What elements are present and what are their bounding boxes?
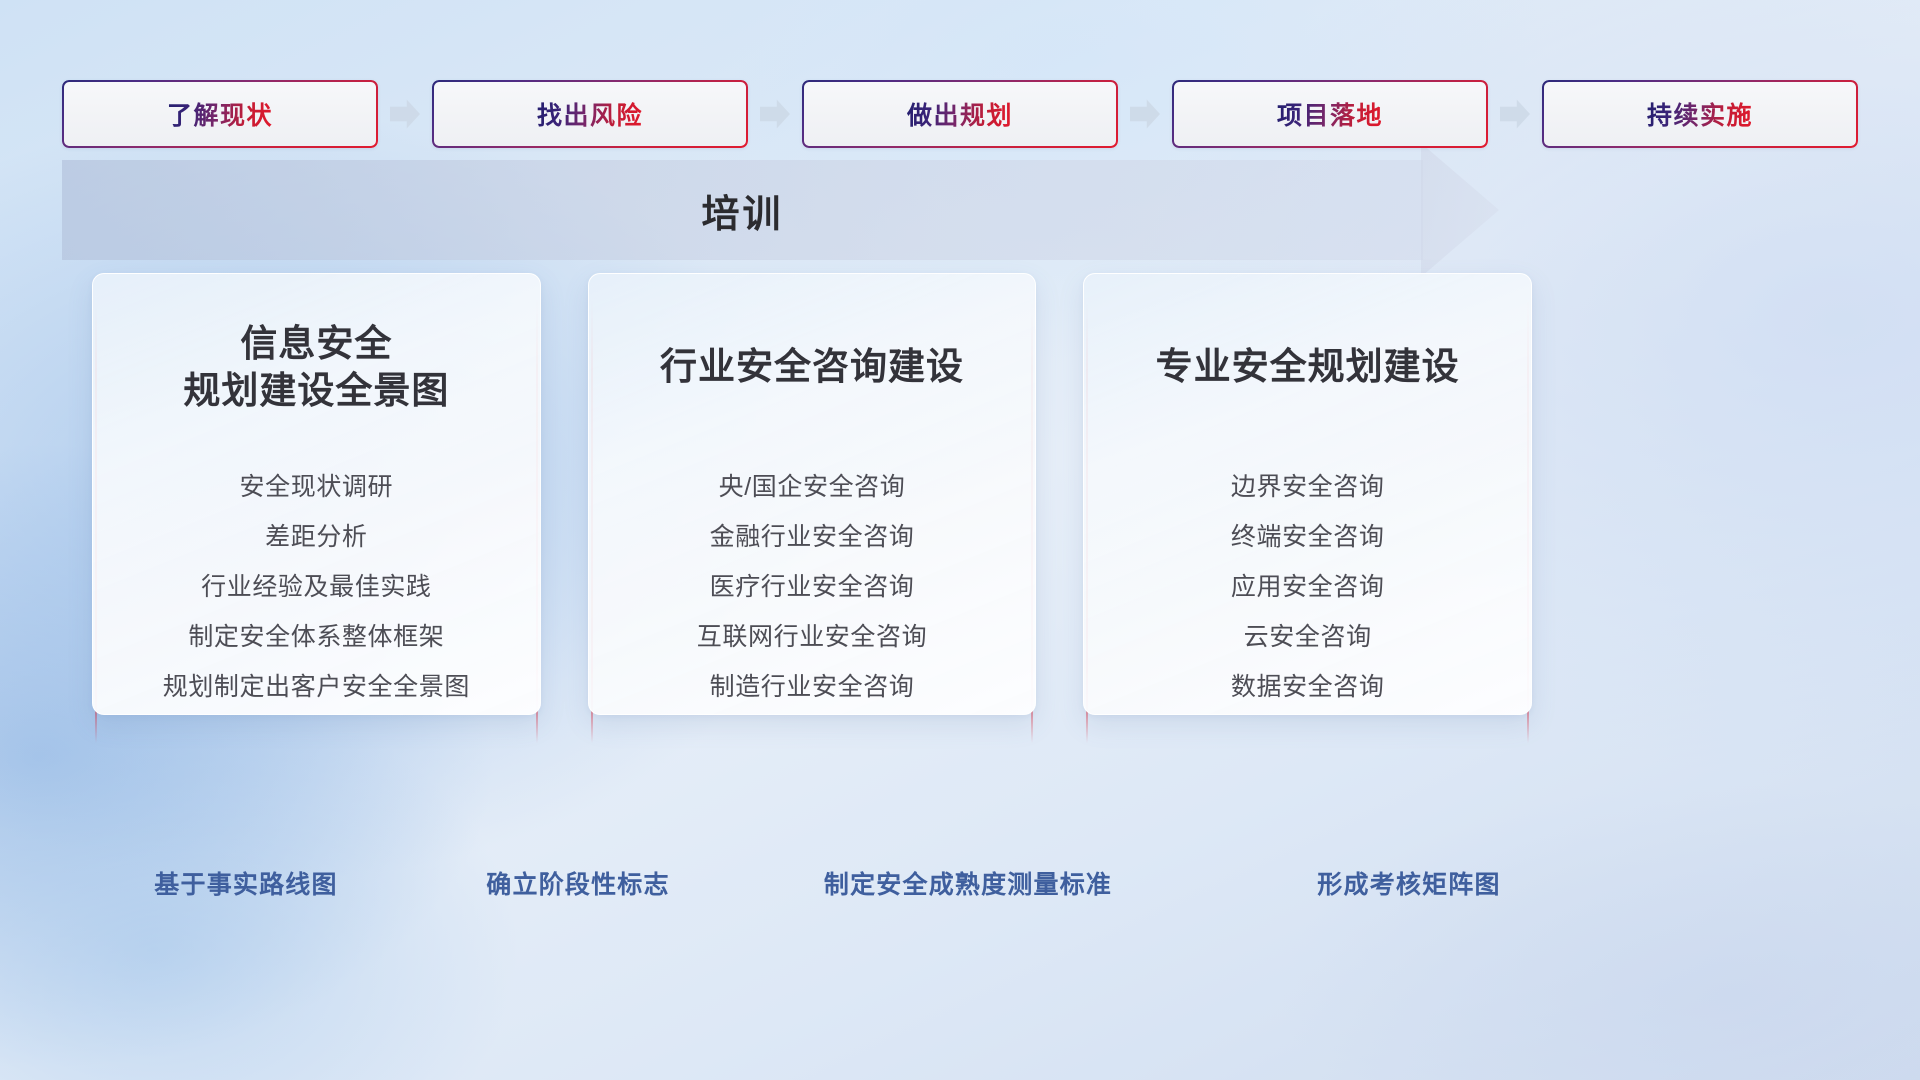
slide-canvas: 了解现状 找出风险 做出规划 项目落地 持续实施 培训 — [0, 0, 1920, 1080]
list-item: 制定安全体系整体框架 — [188, 616, 444, 658]
card-2[interactable]: 行业安全咨询建设 央/国企安全咨询 金融行业安全咨询 医疗行业安全咨询 互联网行… — [588, 273, 1037, 715]
card-title-line-1a: 信息安全规划建设全景图 — [183, 320, 449, 415]
step-arrow-icon-2 — [748, 99, 802, 129]
list-item: 互联网行业安全咨询 — [697, 616, 927, 658]
step-label-3: 做出规划 — [907, 96, 1013, 132]
list-item: 制造行业安全咨询 — [710, 666, 915, 708]
list-item: 央/国企安全咨询 — [719, 466, 906, 508]
step-chip-5[interactable]: 持续实施 — [1542, 80, 1858, 148]
list-item: 差距分析 — [265, 516, 367, 558]
footnote-1: 基于事实路线图 — [154, 865, 337, 901]
step-chip-1[interactable]: 了解现状 — [62, 80, 378, 148]
card-list-3: 边界安全咨询 终端安全咨询 应用安全咨询 云安全咨询 数据安全咨询 — [1118, 466, 1497, 708]
list-item: 云安全咨询 — [1244, 616, 1372, 658]
step-chip-2[interactable]: 找出风险 — [432, 80, 748, 148]
footnote-2: 确立阶段性标志 — [486, 865, 669, 901]
list-item: 终端安全咨询 — [1231, 516, 1385, 558]
card-row: 信息安全规划建设全景图 安全现状调研 差距分析 行业经验及最佳实践 制定安全体系… — [92, 273, 1532, 715]
list-item: 金融行业安全咨询 — [710, 516, 915, 558]
list-item: 规划制定出客户安全全景图 — [163, 666, 470, 708]
card-title-1: 信息安全规划建设全景图 — [183, 318, 449, 416]
card-title-3: 专业安全规划建设 — [1156, 318, 1460, 416]
process-step-row: 了解现状 找出风险 做出规划 项目落地 持续实施 — [62, 80, 1858, 148]
footnote-4: 形成考核矩阵图 — [1317, 865, 1500, 901]
step-label-4: 项目落地 — [1277, 96, 1383, 132]
step-chip-3[interactable]: 做出规划 — [802, 80, 1118, 148]
footnote-3: 制定安全成熟度测量标准 — [824, 865, 1112, 901]
card-title-2: 行业安全咨询建设 — [660, 318, 964, 416]
card-1[interactable]: 信息安全规划建设全景图 安全现状调研 差距分析 行业经验及最佳实践 制定安全体系… — [92, 273, 541, 715]
step-label-5: 持续实施 — [1647, 96, 1753, 132]
banner-title: 培训 — [62, 160, 1423, 260]
list-item: 应用安全咨询 — [1231, 566, 1385, 608]
card-slot-1: 信息安全规划建设全景图 安全现状调研 差距分析 行业经验及最佳实践 制定安全体系… — [92, 273, 541, 715]
step-arrow-icon-3 — [1118, 99, 1172, 129]
list-item: 医疗行业安全咨询 — [710, 566, 915, 608]
step-label-2: 找出风险 — [537, 96, 643, 132]
card-3[interactable]: 专业安全规划建设 边界安全咨询 终端安全咨询 应用安全咨询 云安全咨询 数据安全… — [1083, 273, 1532, 715]
banner-arrowhead-icon — [1421, 143, 1499, 277]
card-list-1: 安全现状调研 差距分析 行业经验及最佳实践 制定安全体系整体框架 规划制定出客户… — [127, 466, 506, 708]
list-item: 安全现状调研 — [240, 466, 394, 508]
footnote-row: 基于事实路线图 确立阶段性标志 制定安全成熟度测量标准 形成考核矩阵图 — [0, 865, 1920, 909]
card-title-line-3a: 专业安全规划建设 — [1156, 343, 1460, 392]
step-arrow-icon-4 — [1488, 99, 1542, 129]
step-label-1: 了解现状 — [167, 96, 273, 132]
card-title-line-2a: 行业安全咨询建设 — [660, 343, 964, 392]
step-chip-4[interactable]: 项目落地 — [1172, 80, 1488, 148]
list-item: 边界安全咨询 — [1231, 466, 1385, 508]
card-slot-3: 专业安全规划建设 边界安全咨询 终端安全咨询 应用安全咨询 云安全咨询 数据安全… — [1083, 273, 1532, 715]
card-slot-2: 行业安全咨询建设 央/国企安全咨询 金融行业安全咨询 医疗行业安全咨询 互联网行… — [588, 273, 1037, 715]
list-item: 数据安全咨询 — [1231, 666, 1385, 708]
training-banner-arrow: 培训 — [62, 160, 1499, 260]
list-item: 行业经验及最佳实践 — [201, 566, 431, 608]
card-list-2: 央/国企安全咨询 金融行业安全咨询 医疗行业安全咨询 互联网行业安全咨询 制造行… — [623, 466, 1002, 708]
step-arrow-icon-1 — [378, 99, 432, 129]
